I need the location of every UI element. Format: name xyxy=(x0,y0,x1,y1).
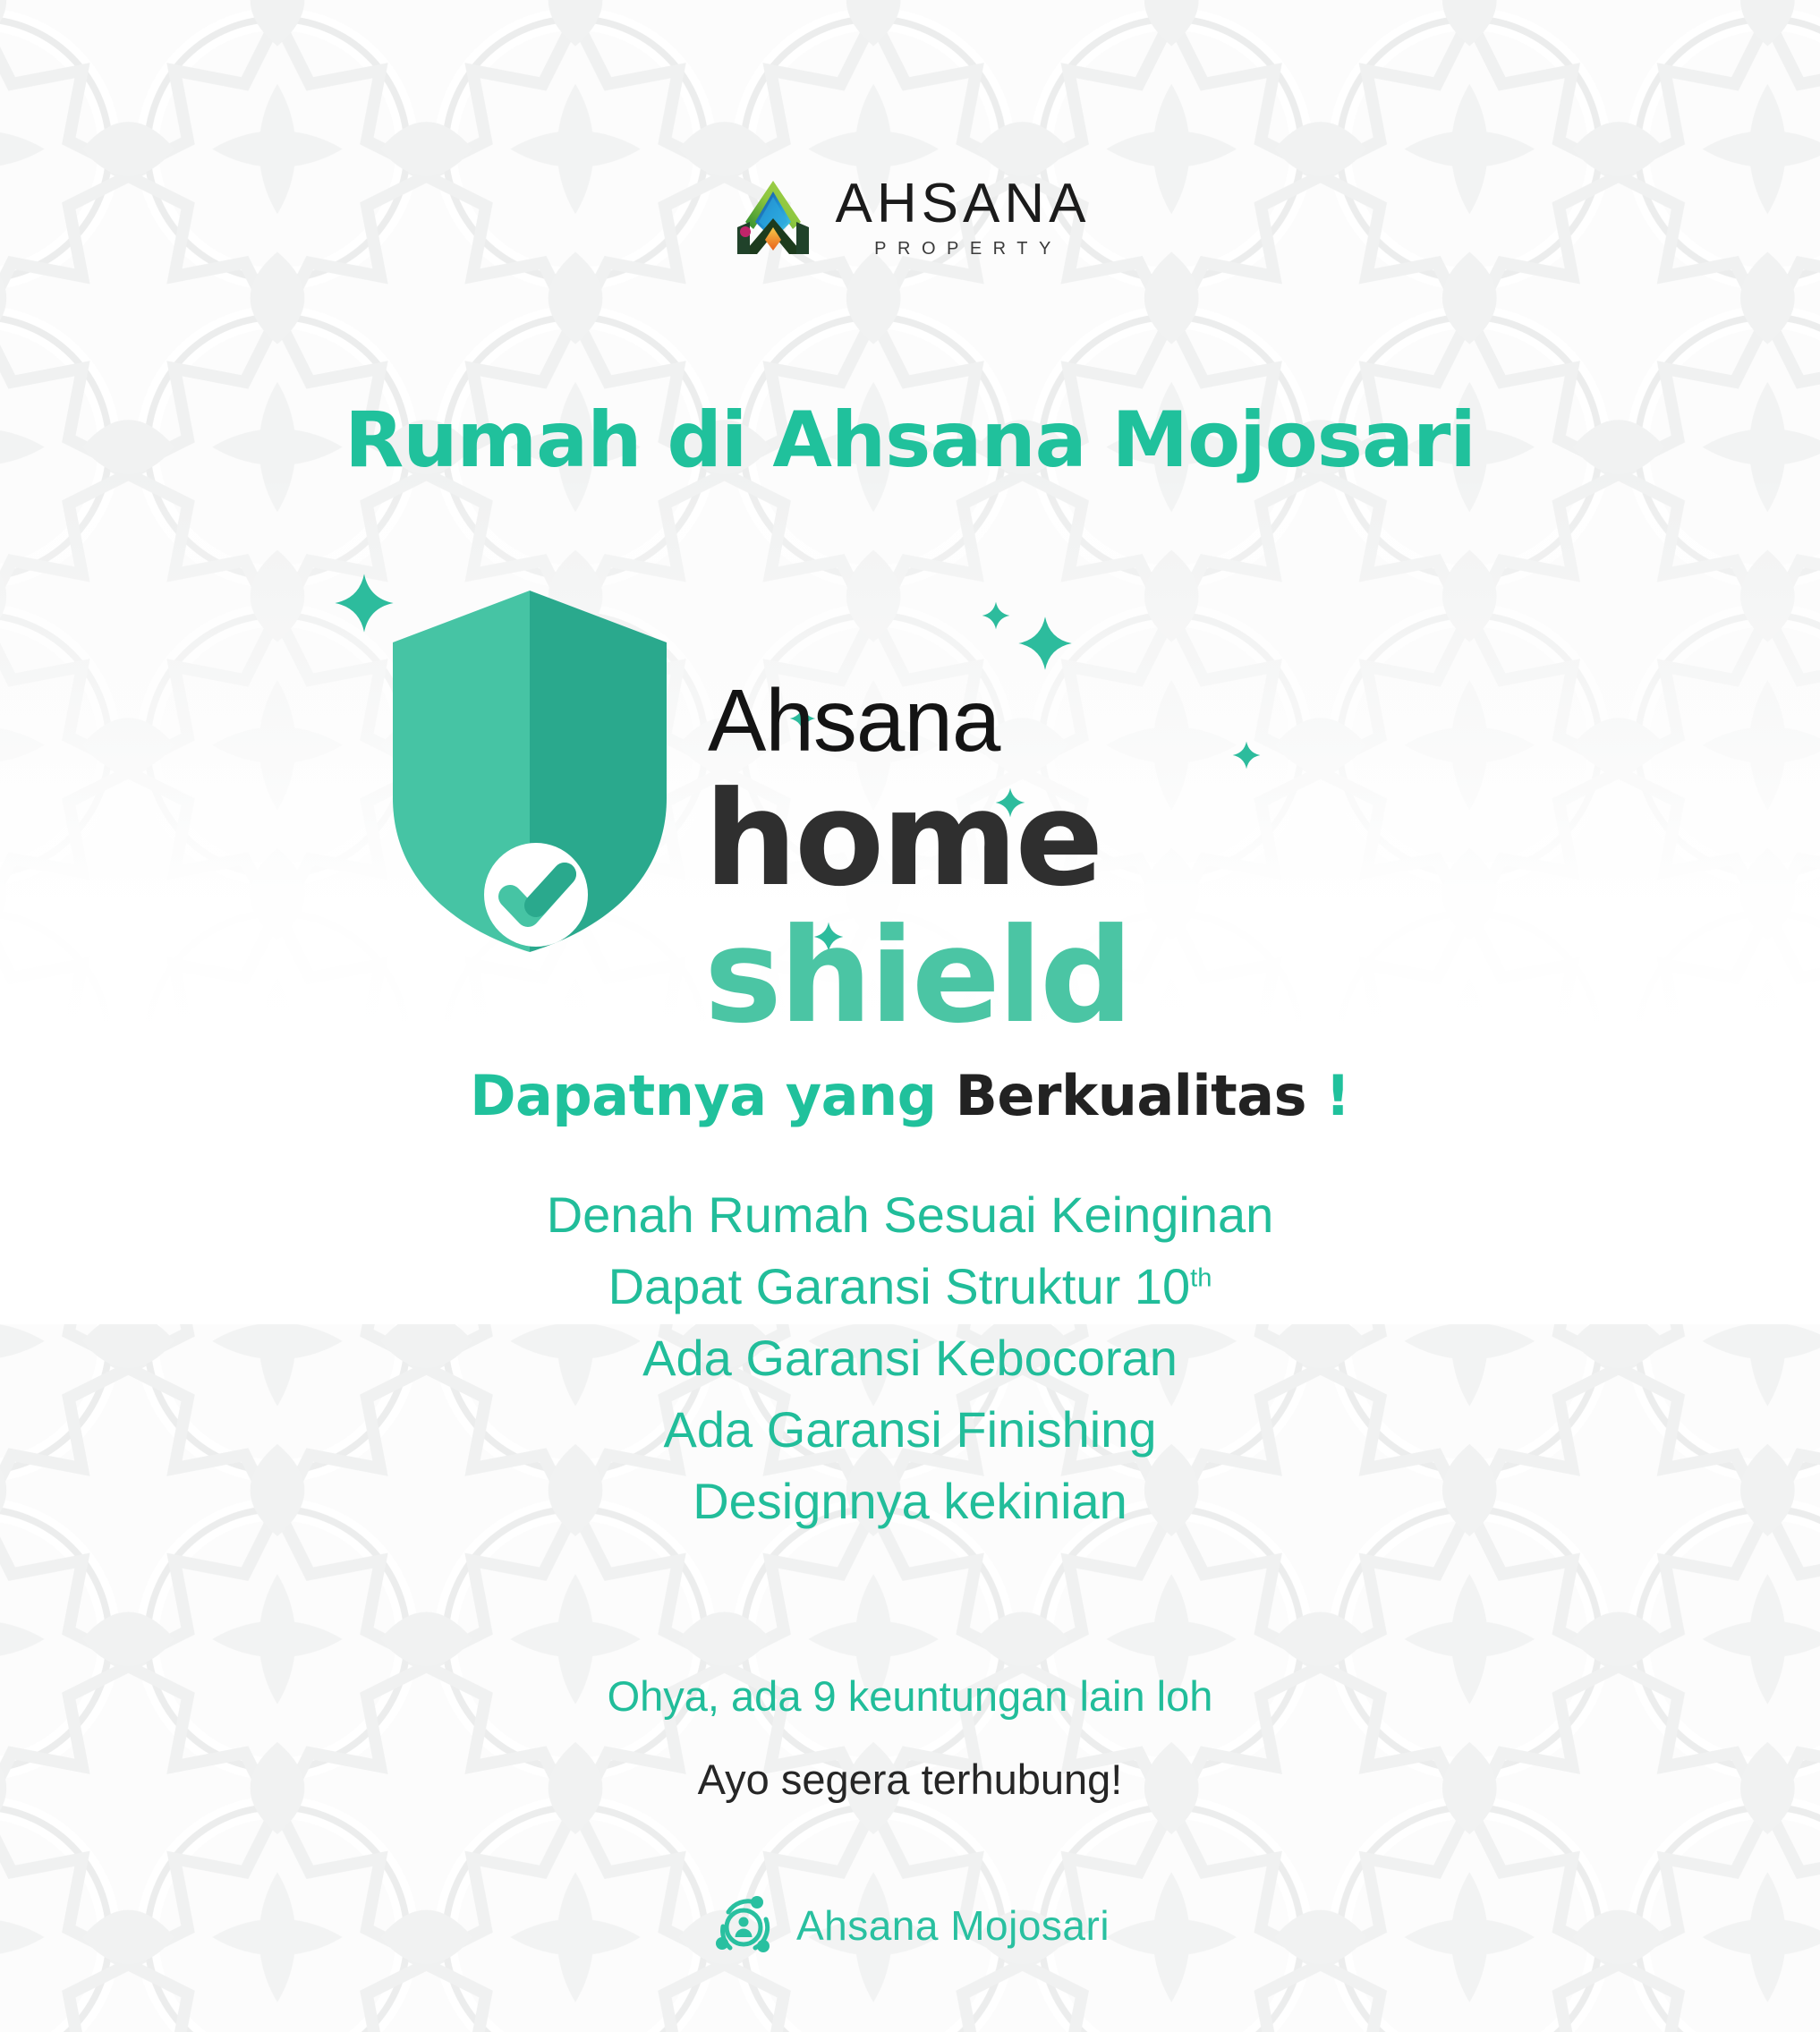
benefit-text: Ada Garansi Finishing xyxy=(664,1401,1157,1458)
list-item: Designnya kekinian xyxy=(0,1466,1820,1537)
check-circle-icon xyxy=(484,843,588,947)
footer-label: Ahsana Mojosari xyxy=(796,1901,1110,1950)
list-item: Dapat Garansi Struktur 10th xyxy=(0,1251,1820,1322)
tagline-part-teal: Dapatnya yang xyxy=(470,1063,936,1128)
shield-icon xyxy=(382,583,677,959)
list-item: Denah Rumah Sesuai Keinginan xyxy=(0,1179,1820,1251)
benefit-text: Denah Rumah Sesuai Keinginan xyxy=(547,1186,1274,1243)
benefits-list: Denah Rumah Sesuai Keinginan Dapat Garan… xyxy=(0,1179,1820,1537)
brand-header: AHSANA PROPERTY xyxy=(0,175,1820,258)
closing-line-2: Ayo segera terhubung! xyxy=(0,1755,1820,1804)
footer: Ahsana Mojosari xyxy=(0,1892,1820,1959)
page-title: Rumah di Ahsana Mojosari xyxy=(0,395,1820,485)
benefit-superscript: th xyxy=(1190,1263,1212,1292)
tagline: Dapatnya yang Berkualitas ! xyxy=(0,1063,1820,1128)
tagline-exclamation: ! xyxy=(1325,1063,1350,1128)
benefit-text: Designnya kekinian xyxy=(693,1473,1127,1529)
list-item: Ada Garansi Finishing xyxy=(0,1394,1820,1466)
person-network-icon xyxy=(710,1892,777,1959)
home-shield-wordmark: Ahsana home shield xyxy=(704,564,1492,1046)
brand-name: AHSANA xyxy=(836,176,1091,232)
wordmark-shield: shield xyxy=(704,900,1130,1052)
list-item: Ada Garansi Kebocoran xyxy=(0,1322,1820,1394)
closing-block: Ohya, ada 9 keuntungan lain loh Ayo sege… xyxy=(0,1671,1820,1804)
wordmark-home: home xyxy=(704,763,1101,915)
poster-canvas: AHSANA PROPERTY Rumah di Ahsana Mojosari xyxy=(0,0,1820,2032)
tagline-part-dark: Berkualitas xyxy=(956,1063,1306,1128)
closing-line-1: Ohya, ada 9 keuntungan lain loh xyxy=(0,1671,1820,1721)
ahsana-triangle-logo-icon xyxy=(730,175,816,258)
hero-lockup: Ahsana home shield xyxy=(0,564,1820,1011)
sparkle-icon xyxy=(334,573,395,633)
wordmark-ahsana: Ahsana xyxy=(704,564,1492,764)
benefit-text: Dapat Garansi Struktur 10 xyxy=(608,1258,1191,1314)
brand-subtitle: PROPERTY xyxy=(863,240,1062,258)
benefit-text: Ada Garansi Kebocoran xyxy=(642,1330,1178,1386)
